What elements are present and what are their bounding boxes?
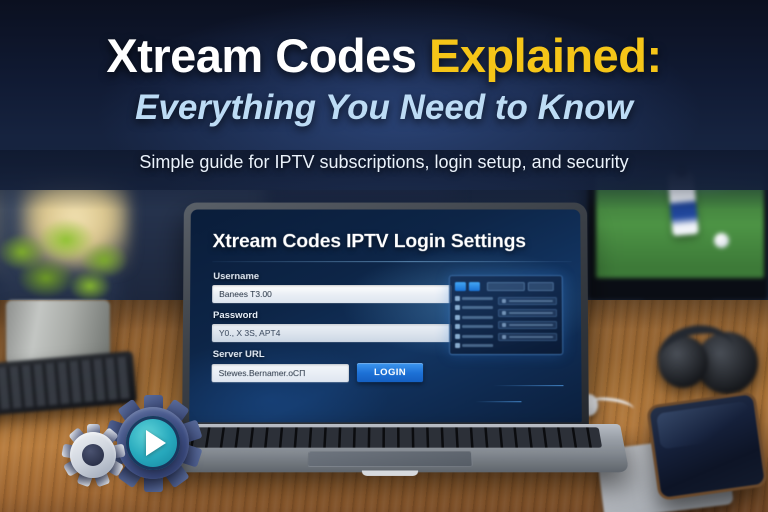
football-ball [714,233,729,248]
decorative-line-2 [475,401,521,402]
row-label [509,324,553,327]
checkbox-icon [455,305,460,310]
panel-nav [455,295,493,350]
password-label: Password [213,310,452,321]
checkbox-icon [455,315,460,320]
login-button[interactable]: LOGIN [357,363,423,382]
server-url-label: Server URL [213,349,452,360]
row-label [509,336,553,339]
laptop-screen: Xtream Codes IPTV Login Settings Usernam… [189,210,582,423]
decorative-line-1 [493,385,563,386]
panel-pill-narrow[interactable] [528,282,554,291]
panel-nav-item[interactable] [455,343,493,349]
panel-nav-label [462,316,493,319]
panel-nav-item[interactable] [455,323,493,329]
panel-list-button[interactable] [469,282,480,291]
row-label [509,312,553,314]
server-url-input[interactable]: Stewes.Bernamer.oCП [212,364,349,382]
row-icon [502,335,506,339]
side-dashboard-panel[interactable] [449,275,563,355]
poster-canvas: Xtream Codes Explained: Everything You N… [0,0,768,512]
laptop-lid: Xtream Codes IPTV Login Settings Usernam… [182,203,589,433]
settings-gear-icon[interactable] [62,424,124,486]
gear-hub [82,444,104,466]
panel-nav-item[interactable] [455,333,493,339]
play-triangle-icon [146,430,166,456]
panel-toolbar [455,281,557,291]
panel-list-item[interactable] [498,309,557,317]
panel-nav-item[interactable] [455,305,493,311]
panel-nav-label [462,344,493,347]
panel-nav-item[interactable] [455,314,493,320]
title-primary-text: Xtream Codes [106,29,429,82]
panel-nav-label [462,297,493,300]
checkbox-icon [455,296,460,301]
title-highlight-text: Explained: [429,29,662,82]
panel-pill-wide[interactable] [487,282,525,291]
password-input[interactable]: Y0., X 3S, APT4 [212,324,452,342]
title-divider [212,261,571,262]
row-icon [502,299,506,303]
app-title: Xtream Codes IPTV Login Settings [212,230,526,253]
gear-icon-group [62,388,212,500]
page-title: Xtream Codes Explained: [0,28,768,83]
smartphone [646,391,768,501]
panel-play-button[interactable] [455,282,466,291]
panel-nav-label [462,325,493,328]
laptop-trackpad[interactable] [307,451,473,467]
checkbox-icon [455,324,460,329]
panel-nav-item[interactable] [455,295,493,301]
laptop: Xtream Codes IPTV Login Settings Usernam… [160,196,620,496]
row-icon [502,323,506,327]
panel-list [498,295,557,350]
username-label: Username [213,271,452,282]
panel-list-item[interactable] [498,297,557,305]
panel-nav-label [462,306,493,309]
login-form: Username Banees T3.00 Password Y0., X 3S… [212,271,453,382]
page-tagline: Simple guide for IPTV subscriptions, log… [0,152,768,173]
row-icon [502,311,506,315]
panel-body [455,295,557,350]
laptop-keyboard[interactable] [178,427,602,447]
row-label [509,300,553,302]
play-button-circle[interactable] [126,416,180,470]
laptop-notch [362,471,418,476]
checkbox-icon [455,334,460,339]
filter-icon [455,343,460,348]
page-subtitle: Everything You Need to Know [0,88,768,128]
panel-list-item[interactable] [498,333,557,341]
server-url-row: Stewes.Bernamer.oCП LOGIN [212,363,453,382]
panel-list-item[interactable] [498,321,557,329]
panel-nav-label [462,335,493,338]
laptop-base [151,424,630,472]
username-input[interactable]: Banees T3.00 [212,285,452,303]
